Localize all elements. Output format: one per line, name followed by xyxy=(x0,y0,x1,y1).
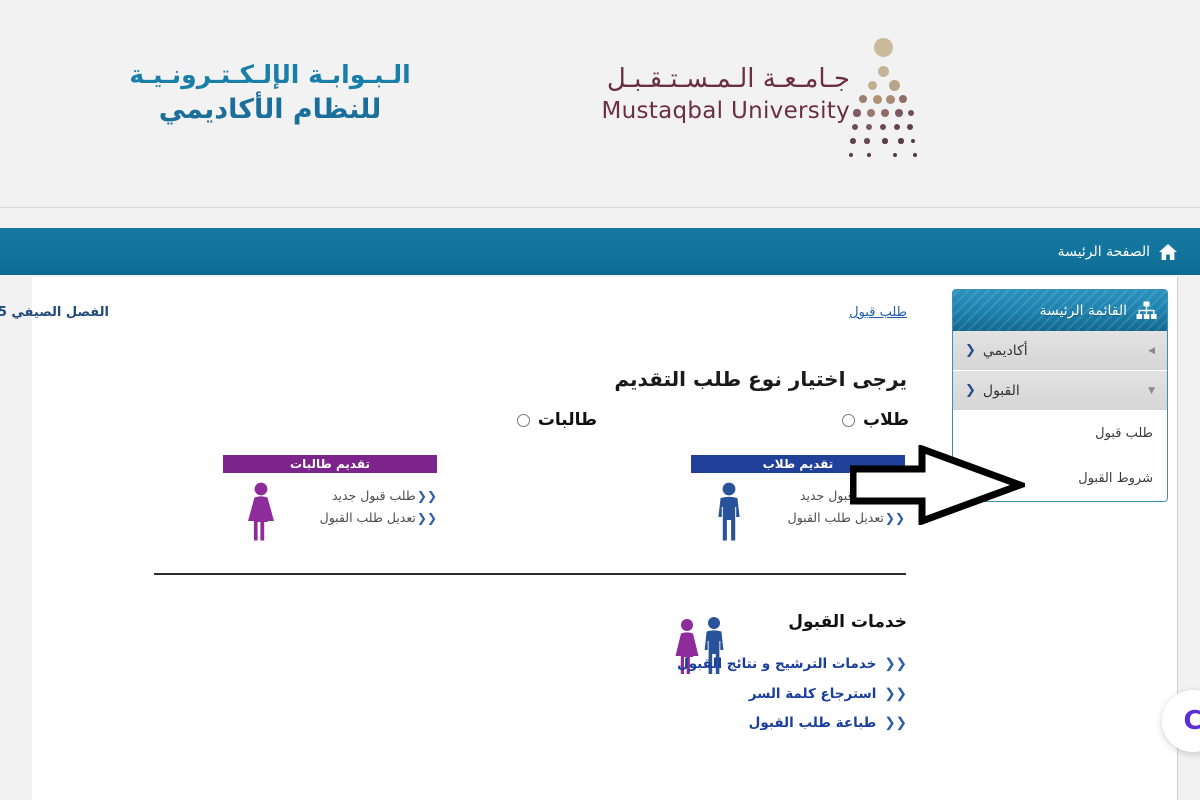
link-recover-password[interactable]: ❮❮استرجاع كلمة السر xyxy=(677,680,907,710)
double-chevron-icon: ❮❮ xyxy=(884,715,907,731)
link-print-admission-request[interactable]: ❮❮طباعة طلب القبول xyxy=(677,709,907,739)
apply-panel-male-links: ❮❮طلب قبول جديد ❮❮تعديل طلب القبول xyxy=(788,485,905,529)
nav-home-link[interactable]: الصفحة الرئيسة xyxy=(1058,228,1178,275)
university-name-english: Mustaqbal University xyxy=(601,97,850,126)
radio-option-male-students[interactable]: طلاب xyxy=(842,410,909,430)
radio-option-female-students-label: طالبات xyxy=(538,410,597,430)
link-edit-admission-request-female-label: تعديل طلب القبول xyxy=(320,510,416,525)
double-chevron-icon: ❮❮ xyxy=(884,686,907,702)
double-chevron-icon: ❮❮ xyxy=(885,489,905,503)
apply-panel-female-title: تقديم طالبات xyxy=(223,455,437,473)
apply-panel-male-title: تقديم طلاب xyxy=(691,455,905,473)
link-edit-admission-request-male-label: تعديل طلب القبول xyxy=(788,510,884,525)
page-title: يرجى اختيار نوع طلب التقديم xyxy=(614,367,907,391)
admission-expand-indicator-icon: ▼ xyxy=(1148,386,1155,396)
radio-button-male-students[interactable] xyxy=(842,414,855,427)
link-new-admission-request-female-label: طلب قبول جديد xyxy=(332,488,416,503)
apply-panel-female: تقديم طالبات ❮❮طلب قبول جديد ❮❮تعديل طلب… xyxy=(223,455,437,552)
section-divider xyxy=(154,573,906,575)
main-column: الفصل الصيفي 1445 هـ طلب قبول يرجى اختيا… xyxy=(32,277,937,800)
sitemap-icon xyxy=(1136,301,1157,320)
sidebar-group-admission[interactable]: ▼ القبول ❮ xyxy=(953,371,1167,411)
content-panel: القائمة الرئيسة ◀ أكاديمي ❮ ▼ القبول ❮ ط… xyxy=(32,277,1178,800)
male-figure-icon xyxy=(713,481,745,543)
female-figure-icon xyxy=(245,481,277,543)
link-new-admission-request-male[interactable]: ❮❮طلب قبول جديد xyxy=(788,485,905,507)
university-brand: جـامـعـة الـمـسـتـقـبـل Mustaqbal Univer… xyxy=(590,45,940,175)
sidebar-group-academic[interactable]: ◀ أكاديمي ❮ xyxy=(953,331,1167,371)
radio-option-female-students[interactable]: طالبات xyxy=(517,410,597,430)
university-name-arabic: جـامـعـة الـمـسـتـقـبـل xyxy=(601,63,850,97)
sidebar-item-admission-conditions-label: شروط القبول xyxy=(1078,471,1153,486)
main-navbar: الصفحة الرئيسة xyxy=(0,228,1200,275)
portal-title-line1: الـبـوابـة الإلـكـتـرونـيـة xyxy=(110,58,430,92)
application-type-radio-group: طلاب طالبات xyxy=(32,410,937,440)
link-new-admission-request-male-label: طلب قبول جديد xyxy=(800,488,884,503)
chevron-left-icon: ❮ xyxy=(965,343,976,358)
sidebar-item-admission-request[interactable]: طلب قبول xyxy=(953,411,1167,456)
apply-panel-male-body: ❮❮طلب قبول جديد ❮❮تعديل طلب القبول xyxy=(691,473,905,552)
dot-triangle-logo-icon xyxy=(845,45,935,175)
university-names: جـامـعـة الـمـسـتـقـبـل Mustaqbal Univer… xyxy=(601,63,850,126)
academic-collapse-indicator-icon: ◀ xyxy=(1148,346,1155,356)
page-header: الـبـوابـة الإلـكـتـرونـيـة للنظام الأكا… xyxy=(0,0,1200,208)
apply-panel-male: تقديم طلاب ❮❮طلب قبول جديد ❮❮تعديل طلب ا… xyxy=(691,455,905,552)
sidebar-group-academic-label: أكاديمي xyxy=(983,343,1028,359)
apply-panel-female-links: ❮❮طلب قبول جديد ❮❮تعديل طلب القبول xyxy=(320,485,437,529)
double-chevron-icon: ❮❮ xyxy=(885,511,905,525)
breadcrumb[interactable]: طلب قبول xyxy=(849,305,907,320)
sidebar-group-admission-label: القبول xyxy=(983,383,1020,399)
link-edit-admission-request-male[interactable]: ❮❮تعديل طلب القبول xyxy=(788,507,905,529)
chevron-left-icon: ❮ xyxy=(965,383,976,398)
radio-button-female-students[interactable] xyxy=(517,414,530,427)
services-links: ❮❮خدمات الترشيح و نتائج القبول ❮❮استرجاع… xyxy=(677,650,907,739)
semester-label: الفصل الصيفي 1445 هـ xyxy=(0,305,109,320)
link-recover-password-label: استرجاع كلمة السر xyxy=(749,686,877,702)
apply-panel-female-body: ❮❮طلب قبول جديد ❮❮تعديل طلب القبول xyxy=(223,473,437,552)
link-new-admission-request-female[interactable]: ❮❮طلب قبول جديد xyxy=(320,485,437,507)
portal-title: الـبـوابـة الإلـكـتـرونـيـة للنظام الأكا… xyxy=(110,58,430,128)
radio-option-male-students-label: طلاب xyxy=(863,410,909,430)
sidebar-item-admission-request-label: طلب قبول xyxy=(1095,426,1153,441)
chat-widget-icon: C xyxy=(1183,706,1200,736)
nav-home-label: الصفحة الرئيسة xyxy=(1058,244,1150,260)
portal-title-line2: للنظام الأكاديمي xyxy=(110,92,430,128)
sidebar-header-label: القائمة الرئيسة xyxy=(1040,303,1127,319)
link-nomination-services[interactable]: ❮❮خدمات الترشيح و نتائج القبول xyxy=(677,650,907,680)
link-nomination-services-label: خدمات الترشيح و نتائج القبول xyxy=(677,656,876,672)
sidebar-header: القائمة الرئيسة xyxy=(953,290,1167,331)
home-icon xyxy=(1158,243,1178,261)
sidebar-item-admission-conditions[interactable]: شروط القبول xyxy=(953,456,1167,501)
double-chevron-icon: ❮❮ xyxy=(884,656,907,672)
link-edit-admission-request-female[interactable]: ❮❮تعديل طلب القبول xyxy=(320,507,437,529)
services-title: خدمات القبول xyxy=(788,612,907,632)
link-print-admission-request-label: طباعة طلب القبول xyxy=(749,715,877,731)
double-chevron-icon: ❮❮ xyxy=(417,489,437,503)
double-chevron-icon: ❮❮ xyxy=(417,511,437,525)
sidebar-menu: القائمة الرئيسة ◀ أكاديمي ❮ ▼ القبول ❮ ط… xyxy=(952,289,1168,502)
